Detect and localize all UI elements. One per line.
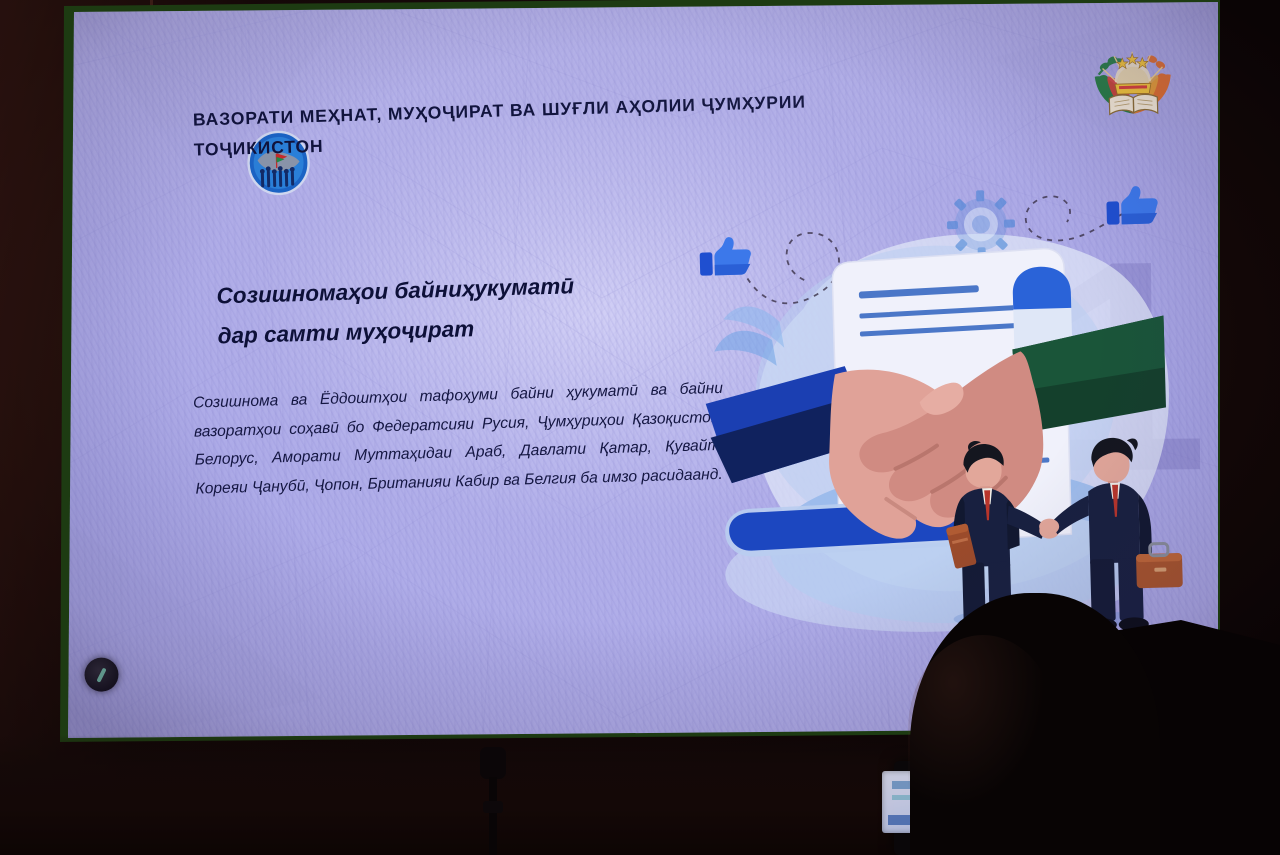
conference-room-photo: 1 <box>0 0 1280 855</box>
microphone-stem <box>489 777 497 855</box>
audience-head-rimlight <box>908 635 1058 825</box>
microphone-stand <box>472 747 514 855</box>
microphone-head <box>480 747 506 779</box>
microphone-joint <box>483 801 503 813</box>
